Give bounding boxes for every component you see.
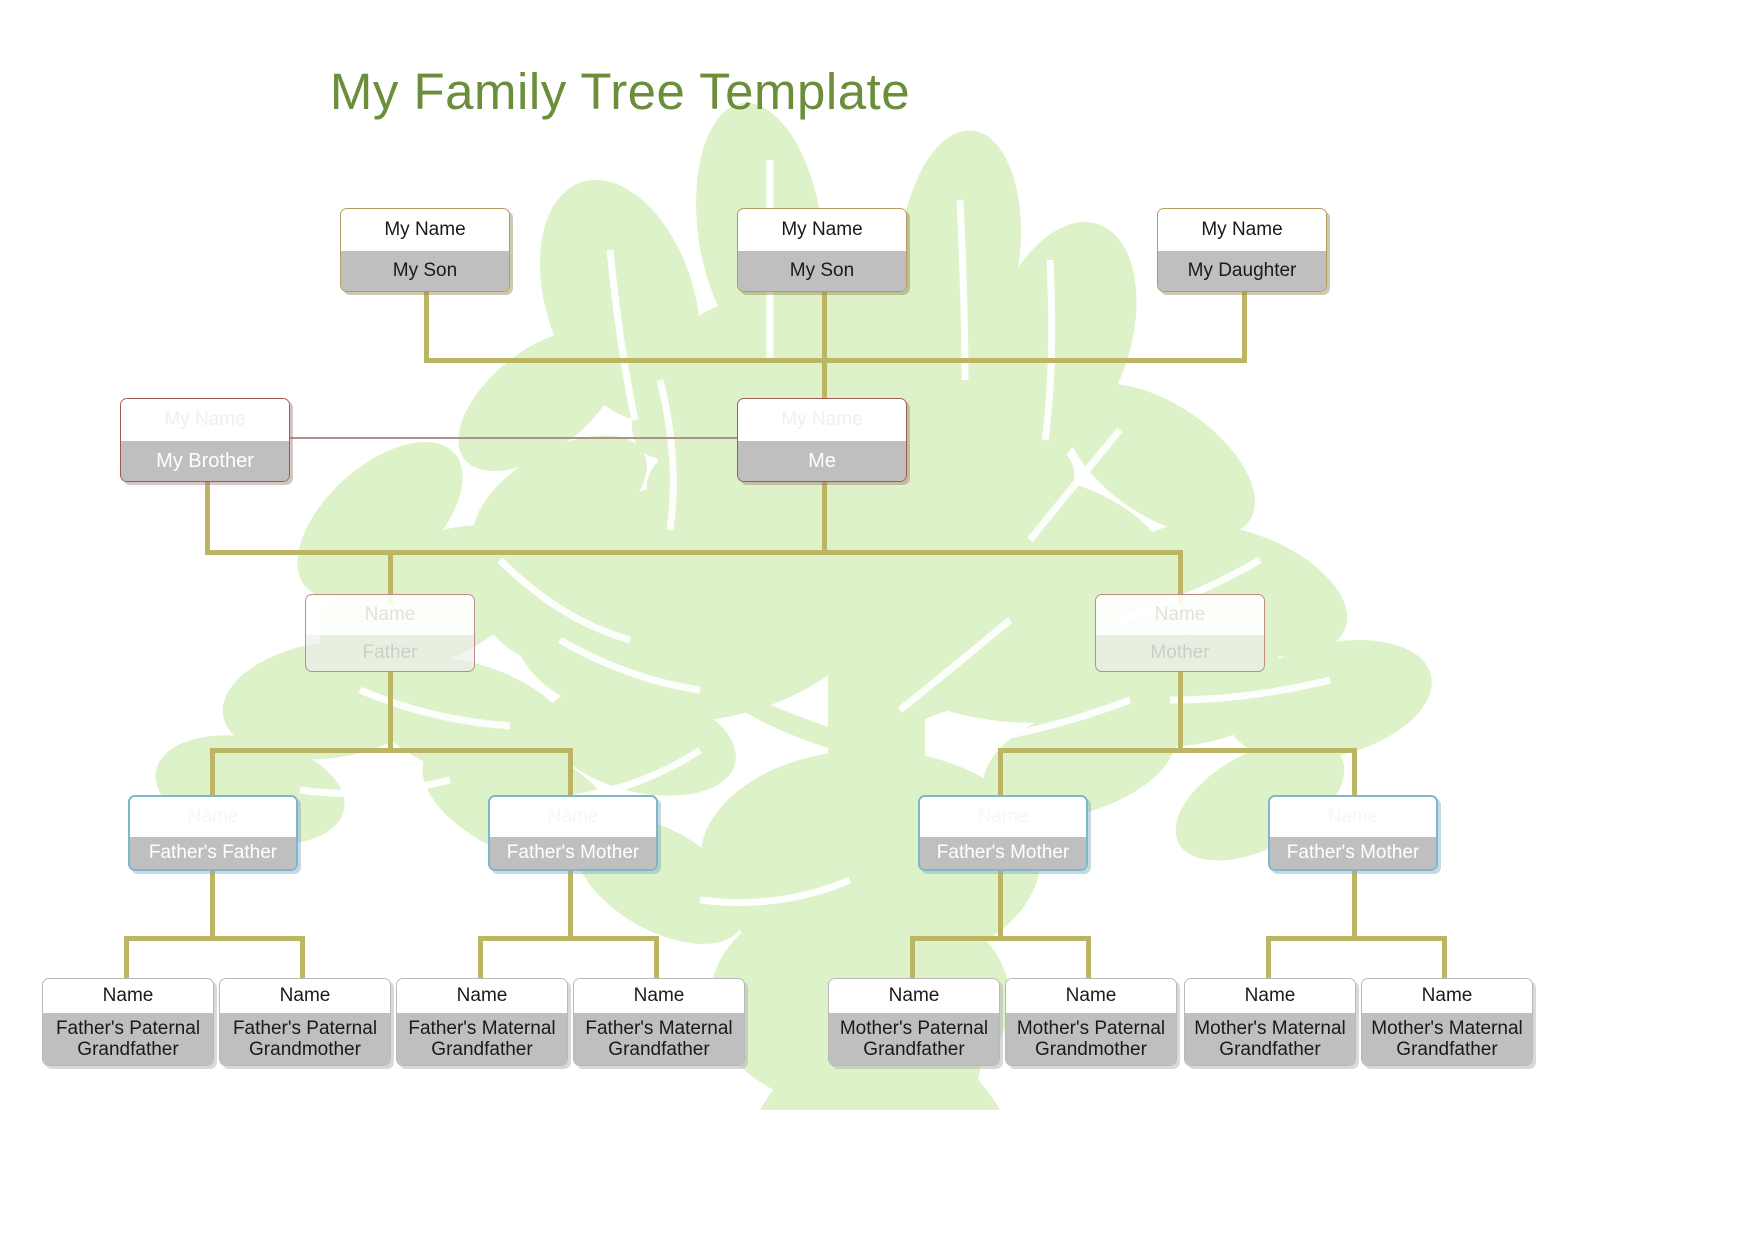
node-relation-label: Mother's Maternal Grandfather: [1185, 1013, 1355, 1065]
node-name-label: Name: [1006, 979, 1176, 1013]
node-great-grandparent-1[interactable]: Name Father's Paternal Grandfather: [42, 978, 214, 1066]
connector-father-down: [388, 672, 393, 752]
connector-ggp1b-down: [300, 936, 305, 978]
node-relation-label: My Son: [738, 251, 906, 291]
node-great-grandparent-2[interactable]: Name Father's Paternal Grandmother: [219, 978, 391, 1066]
connector-gp4-down: [1352, 868, 1357, 940]
node-grandparent-2[interactable]: Name Father's Mother: [488, 795, 658, 871]
node-relation-label: Father's Paternal Grandfather: [43, 1013, 213, 1065]
node-me[interactable]: My Name Me: [737, 398, 907, 482]
connector-ggp2-bus: [478, 936, 658, 941]
connector-me-brother: [205, 437, 825, 439]
connector-gp2-down: [568, 868, 573, 940]
node-child-3[interactable]: My Name My Daughter: [1157, 208, 1327, 292]
connector-parents-bus: [205, 550, 1180, 555]
connector-ggp4b-down: [1442, 936, 1447, 978]
node-relation-label: Mother's Paternal Grandfather: [829, 1013, 999, 1065]
node-name-label: Name: [1096, 595, 1264, 635]
node-grandparent-3[interactable]: Name Father's Mother: [918, 795, 1088, 871]
page-title: My Family Tree Template: [0, 62, 1240, 121]
connector-ggp2b-down: [654, 936, 659, 978]
connector-gp1-down: [210, 868, 215, 940]
node-great-grandparent-6[interactable]: Name Mother's Paternal Grandmother: [1005, 978, 1177, 1066]
node-relation-label: Father's Mother: [1270, 837, 1436, 869]
node-relation-label: Father's Paternal Grandmother: [220, 1013, 390, 1065]
node-great-grandparent-4[interactable]: Name Father's Maternal Grandfather: [573, 978, 745, 1066]
connector-children-bus: [424, 358, 1247, 363]
node-grandparent-4[interactable]: Name Father's Mother: [1268, 795, 1438, 871]
node-my-brother[interactable]: My Name My Brother: [120, 398, 290, 482]
connector-ggp4-bus: [1266, 936, 1446, 941]
connector-ggp3-bus: [910, 936, 1090, 941]
node-name-label: Name: [306, 595, 474, 635]
node-father[interactable]: Name Father: [305, 594, 475, 672]
connector-ggp4a-down: [1266, 936, 1271, 978]
node-relation-label: Father's Father: [130, 837, 296, 869]
node-relation-label: My Brother: [121, 441, 289, 481]
node-name-label: Name: [490, 797, 656, 837]
node-relation-label: Father: [306, 635, 474, 671]
connector-child2-down: [822, 292, 827, 360]
node-relation-label: Mother's Paternal Grandmother: [1006, 1013, 1176, 1065]
node-name-label: Name: [43, 979, 213, 1013]
node-child-2[interactable]: My Name My Son: [737, 208, 907, 292]
node-relation-label: Father's Maternal Grandfather: [574, 1013, 744, 1065]
node-relation-label: Father's Maternal Grandfather: [397, 1013, 567, 1065]
node-relation-label: Father's Mother: [490, 837, 656, 869]
node-name-label: Name: [130, 797, 296, 837]
node-name-label: Name: [397, 979, 567, 1013]
connector-child1-down: [424, 292, 429, 360]
node-great-grandparent-3[interactable]: Name Father's Maternal Grandfather: [396, 978, 568, 1066]
node-name-label: Name: [1362, 979, 1532, 1013]
connector-ggp3b-down: [1086, 936, 1091, 978]
node-name-label: My Name: [341, 209, 509, 251]
node-relation-label: My Son: [341, 251, 509, 291]
connector-brother-down: [205, 482, 210, 554]
node-name-label: My Name: [1158, 209, 1326, 251]
node-name-label: Name: [1185, 979, 1355, 1013]
node-child-1[interactable]: My Name My Son: [340, 208, 510, 292]
node-name-label: Name: [574, 979, 744, 1013]
connector-me-down: [822, 482, 827, 554]
node-great-grandparent-7[interactable]: Name Mother's Maternal Grandfather: [1184, 978, 1356, 1066]
connector-ggp2a-down: [478, 936, 483, 978]
connector-gp3-down: [998, 868, 1003, 940]
connector-ggp1-bus: [124, 936, 304, 941]
node-name-label: My Name: [738, 399, 906, 441]
node-great-grandparent-8[interactable]: Name Mother's Maternal Grandfather: [1361, 978, 1533, 1066]
node-relation-label: My Daughter: [1158, 251, 1326, 291]
node-name-label: Name: [220, 979, 390, 1013]
connector-child3-down: [1242, 292, 1247, 360]
node-name-label: Name: [1270, 797, 1436, 837]
connector-father-parents-bus: [210, 748, 572, 753]
node-name-label: My Name: [121, 399, 289, 441]
node-name-label: Name: [829, 979, 999, 1013]
connector-ggp1a-down: [124, 936, 129, 978]
connector-mother-parents-bus: [998, 748, 1356, 753]
node-great-grandparent-5[interactable]: Name Mother's Paternal Grandfather: [828, 978, 1000, 1066]
node-relation-label: Mother: [1096, 635, 1264, 671]
node-relation-label: Me: [738, 441, 906, 481]
connector-ggp3a-down: [910, 936, 915, 978]
node-grandparent-1[interactable]: Name Father's Father: [128, 795, 298, 871]
node-name-label: My Name: [738, 209, 906, 251]
connector-mother-down: [1178, 672, 1183, 752]
node-mother[interactable]: Name Mother: [1095, 594, 1265, 672]
family-tree-page: My Family Tree Template My Name My Son M…: [0, 0, 1754, 1240]
node-relation-label: Mother's Maternal Grandfather: [1362, 1013, 1532, 1065]
node-name-label: Name: [920, 797, 1086, 837]
node-relation-label: Father's Mother: [920, 837, 1086, 869]
